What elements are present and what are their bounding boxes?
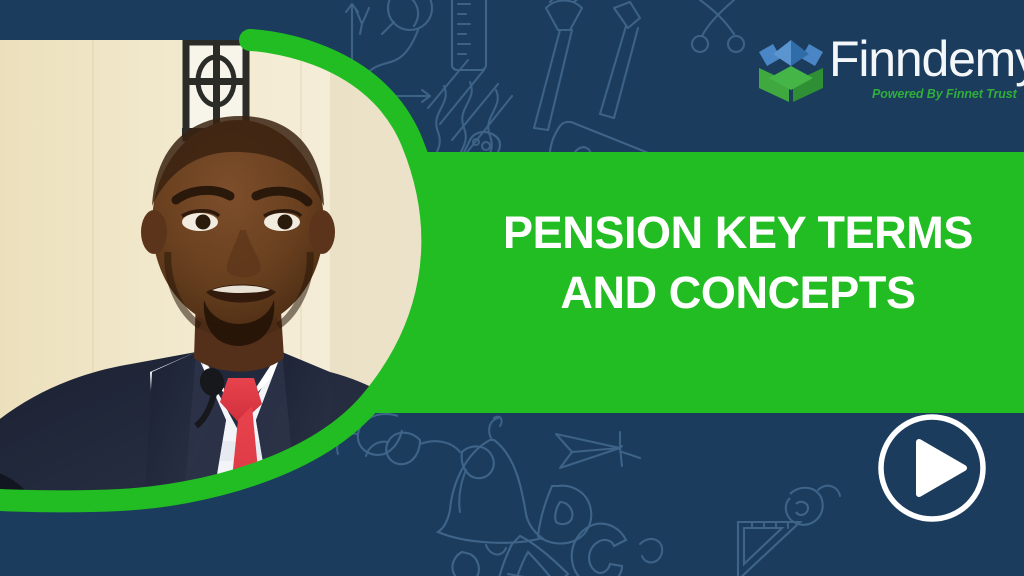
- video-thumbnail-card: PENSION KEY TERMS AND CONCEPTS Finndemy …: [0, 0, 1024, 576]
- brand-tagline: Powered By Finnet Trust: [872, 87, 1017, 101]
- brand-name: Finndemy: [829, 34, 1024, 84]
- page-title: PENSION KEY TERMS AND CONCEPTS: [452, 203, 1024, 323]
- finndemy-cube-icon: [757, 38, 825, 104]
- play-button[interactable]: [876, 412, 988, 524]
- speaker-photo: [0, 0, 470, 576]
- brand-logo[interactable]: Finndemy Powered By Finnet Trust: [757, 36, 1005, 108]
- play-triangle-icon: [919, 442, 964, 494]
